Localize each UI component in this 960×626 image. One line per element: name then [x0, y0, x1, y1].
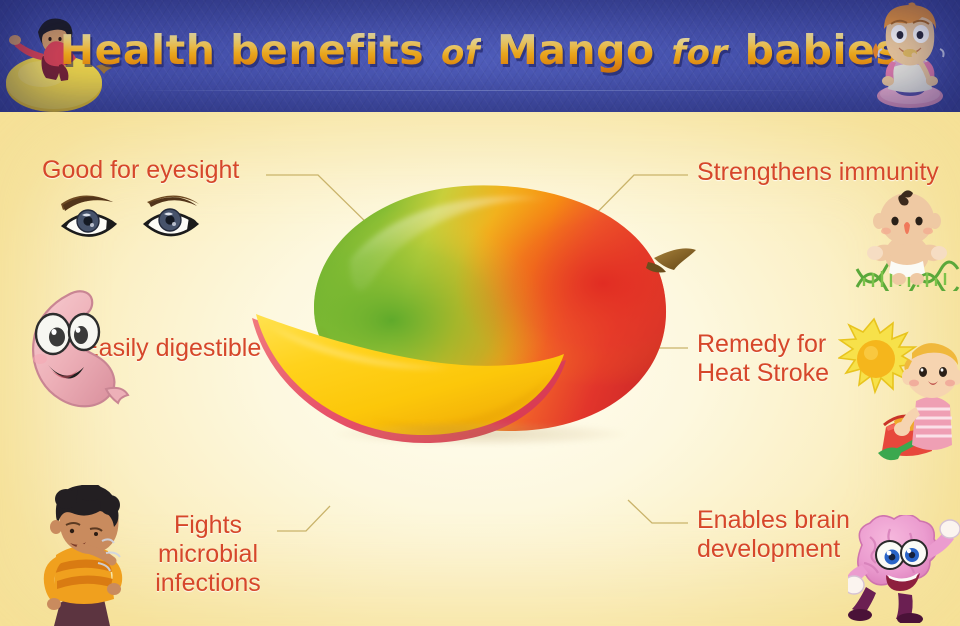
strong-baby-dna-icon	[855, 183, 960, 291]
benefit-label-eyesight[interactable]: Good for eyesight	[42, 156, 239, 185]
title-part-3: Mango	[496, 26, 656, 74]
stomach-duodenum	[106, 388, 128, 403]
header-banner: Health benefits of Mango for babies	[0, 0, 960, 112]
coughing-child-icon	[38, 485, 153, 626]
running-brain-icon	[848, 515, 960, 623]
mango-illustration	[250, 150, 710, 480]
title-part-2: of	[440, 33, 481, 73]
baby-girl-eating-icon	[862, 1, 958, 111]
brain-left-fist	[848, 576, 864, 594]
title-part-1: Health benefits	[59, 26, 425, 74]
human-eyes-icon	[55, 188, 205, 246]
page-title: Health benefits of Mango for babies	[0, 18, 960, 85]
title-part-4: for	[670, 33, 728, 73]
benefit-label-brain[interactable]: Enables brain development	[697, 506, 850, 564]
sun-core	[857, 340, 895, 378]
cartoon-stomach-icon	[10, 285, 155, 430]
header-divider	[130, 90, 830, 91]
baby-swimsuit	[912, 397, 952, 450]
benefit-label-heatstroke[interactable]: Remedy for Heat Stroke	[697, 330, 829, 388]
infographic-poster: Health benefits of Mango for babies	[0, 0, 960, 626]
benefit-label-microbial[interactable]: Fights microbial infections	[143, 511, 273, 598]
sun-and-beach-baby-icon	[838, 315, 960, 463]
mango-drop-shadow	[290, 418, 670, 450]
brain-right-fist	[940, 520, 960, 538]
